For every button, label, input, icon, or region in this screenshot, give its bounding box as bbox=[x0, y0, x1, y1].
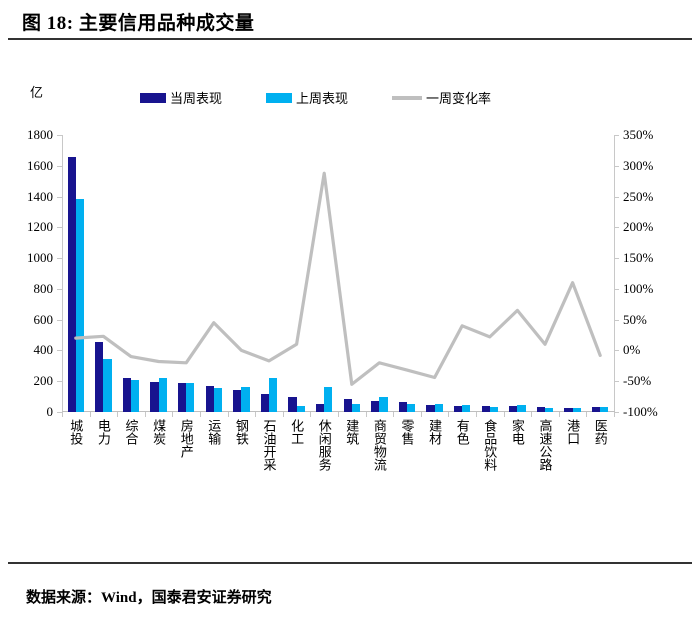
x-axis-category-label: 房地产 bbox=[180, 419, 193, 458]
header-divider bbox=[8, 38, 692, 40]
y-axis-left-tick-label: 1400 bbox=[27, 190, 53, 203]
x-axis-category-label: 商贸物流 bbox=[373, 419, 386, 471]
x-axis-category-label: 食品饮料 bbox=[483, 419, 496, 471]
figure-container: 图 18: 主要信用品种成交量 亿 当周表现 上周表现 一周变化率 180016… bbox=[0, 0, 700, 619]
y-axis-left-tick-label: 1200 bbox=[27, 220, 53, 233]
legend-item-current-week: 当周表现 bbox=[140, 88, 222, 107]
x-axis-category-label: 建材 bbox=[428, 419, 441, 445]
y-axis-unit-label: 亿 bbox=[30, 82, 43, 101]
figure-source: 数据来源：Wind，国泰君安证券研究 bbox=[26, 586, 272, 607]
plot-area: 180016001400120010008006004002000 350%30… bbox=[62, 135, 614, 412]
x-axis-category-label: 有色 bbox=[456, 419, 469, 445]
x-axis-category-label: 运输 bbox=[207, 419, 220, 445]
chart-canvas: 亿 当周表现 上周表现 一周变化率 1800160014001200100080… bbox=[0, 60, 700, 555]
line-series-weekly-change-rate bbox=[62, 135, 615, 413]
x-axis-category-label: 零售 bbox=[401, 419, 414, 445]
legend-item-previous-week: 上周表现 bbox=[266, 88, 348, 107]
x-axis-category-label: 电力 bbox=[97, 419, 110, 445]
x-axis-category-label: 休闲服务 bbox=[318, 419, 331, 471]
y-axis-left-tick-label: 1000 bbox=[27, 251, 53, 264]
legend-label-previous-week: 上周表现 bbox=[296, 88, 348, 107]
weekly-change-rate-polyline bbox=[76, 173, 600, 384]
x-axis-category-label: 煤炭 bbox=[152, 419, 165, 445]
legend-item-weekly-change-rate: 一周变化率 bbox=[392, 88, 491, 107]
legend-swatch-previous-week bbox=[266, 93, 292, 103]
x-axis-category-label: 医药 bbox=[594, 419, 607, 445]
chart-legend: 当周表现 上周表现 一周变化率 bbox=[140, 88, 491, 107]
legend-label-current-week: 当周表现 bbox=[170, 88, 222, 107]
y-axis-left-tick-label: 400 bbox=[34, 343, 54, 356]
y-axis-right-tick-label: 150% bbox=[623, 251, 653, 264]
y-axis-left-tick-label: 200 bbox=[34, 374, 54, 387]
legend-swatch-current-week bbox=[140, 93, 166, 103]
y-axis-right-tick-label: -50% bbox=[623, 374, 651, 387]
y-axis-right-tick-label: 50% bbox=[623, 313, 647, 326]
legend-label-weekly-change-rate: 一周变化率 bbox=[426, 88, 491, 107]
figure-title: 图 18: 主要信用品种成交量 bbox=[22, 8, 254, 35]
x-axis-category-label: 钢铁 bbox=[235, 419, 248, 445]
x-axis-category-label: 港口 bbox=[566, 419, 579, 445]
y-axis-right-tick-label: 300% bbox=[623, 159, 653, 172]
legend-line-weekly-change-rate bbox=[392, 96, 422, 100]
y-axis-left-tick-label: 800 bbox=[34, 282, 54, 295]
x-axis-category-label: 家电 bbox=[511, 419, 524, 445]
x-axis-category-labels: 城投电力综合煤炭房地产运输钢铁石油开采化工休闲服务建筑商贸物流零售建材有色食品饮… bbox=[62, 413, 614, 543]
y-axis-left-tick-label: 0 bbox=[47, 405, 54, 418]
footer-divider bbox=[8, 562, 692, 564]
y-axis-right-tick-label: 200% bbox=[623, 220, 653, 233]
y-axis-right-tick-label: 250% bbox=[623, 190, 653, 203]
x-axis-category-label: 城投 bbox=[69, 419, 82, 445]
x-axis-category-label: 高速公路 bbox=[539, 419, 552, 471]
y-axis-left-tick-label: 1800 bbox=[27, 128, 53, 141]
y-axis-right-tick-label: 350% bbox=[623, 128, 653, 141]
y-axis-left-tick-label: 1600 bbox=[27, 159, 53, 172]
y-axis-right-tick-label: 0% bbox=[623, 343, 640, 356]
y-axis-right-tick-label: -100% bbox=[623, 405, 658, 418]
x-axis-category-label: 石油开采 bbox=[263, 419, 276, 471]
x-axis-category-label: 综合 bbox=[125, 419, 138, 445]
y-axis-left-tick-label: 600 bbox=[34, 313, 54, 326]
x-axis-category-label: 化工 bbox=[290, 419, 303, 445]
x-axis-category-label: 建筑 bbox=[345, 419, 358, 445]
y-axis-right-tick-label: 100% bbox=[623, 282, 653, 295]
